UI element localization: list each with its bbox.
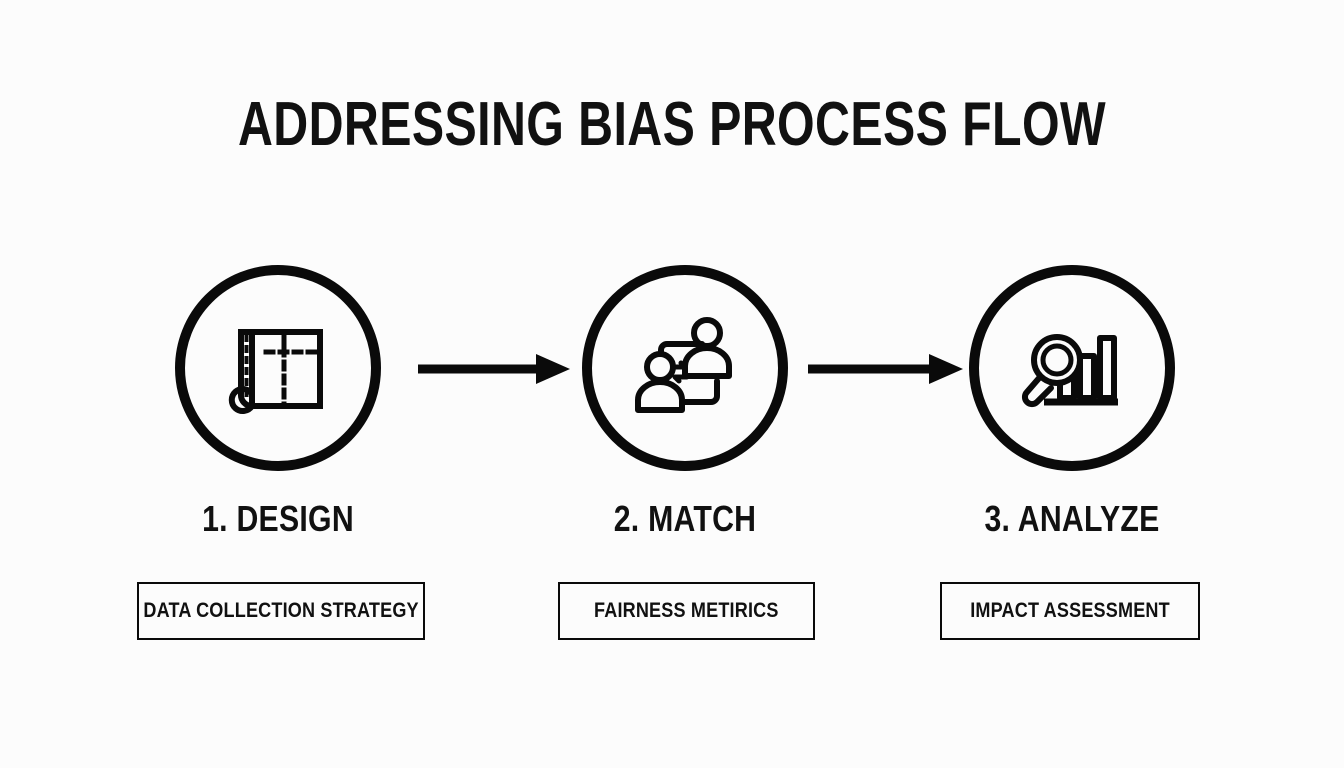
process-flow-infographic: ADDRESSING BIAS PROCESS FLOW — [0, 0, 1344, 768]
step-tag-label: IMPACT ASSESSMENT — [970, 599, 1170, 623]
process-step-design[interactable] — [168, 255, 388, 480]
process-step-analyze[interactable] — [962, 255, 1182, 480]
step-tag-label: DATA COLLECTION STRATEGY — [143, 599, 418, 623]
magnifier-bar-chart-icon — [969, 265, 1175, 471]
step-tag-box-match[interactable]: FAIRNESS METIRICS — [558, 582, 815, 640]
process-step-match[interactable] — [575, 255, 795, 480]
step-tag-label: FAIRNESS METIRICS — [594, 599, 779, 623]
step-caption-match: 2. MATCH — [534, 497, 836, 541]
arrow-right-icon-1 — [418, 352, 573, 386]
process-steps-row — [0, 255, 1344, 485]
step-caption-design: 1. DESIGN — [127, 497, 429, 541]
blueprint-roll-icon — [175, 265, 381, 471]
step-caption-analyze: 3. ANALYZE — [921, 497, 1223, 541]
page-title: ADDRESSING BIAS PROCESS FLOW — [148, 92, 1196, 158]
arrow-right-icon-2 — [808, 352, 966, 386]
step-tag-box-analyze[interactable]: IMPACT ASSESSMENT — [940, 582, 1200, 640]
people-match-icon — [582, 265, 788, 471]
step-tag-box-design[interactable]: DATA COLLECTION STRATEGY — [137, 582, 425, 640]
